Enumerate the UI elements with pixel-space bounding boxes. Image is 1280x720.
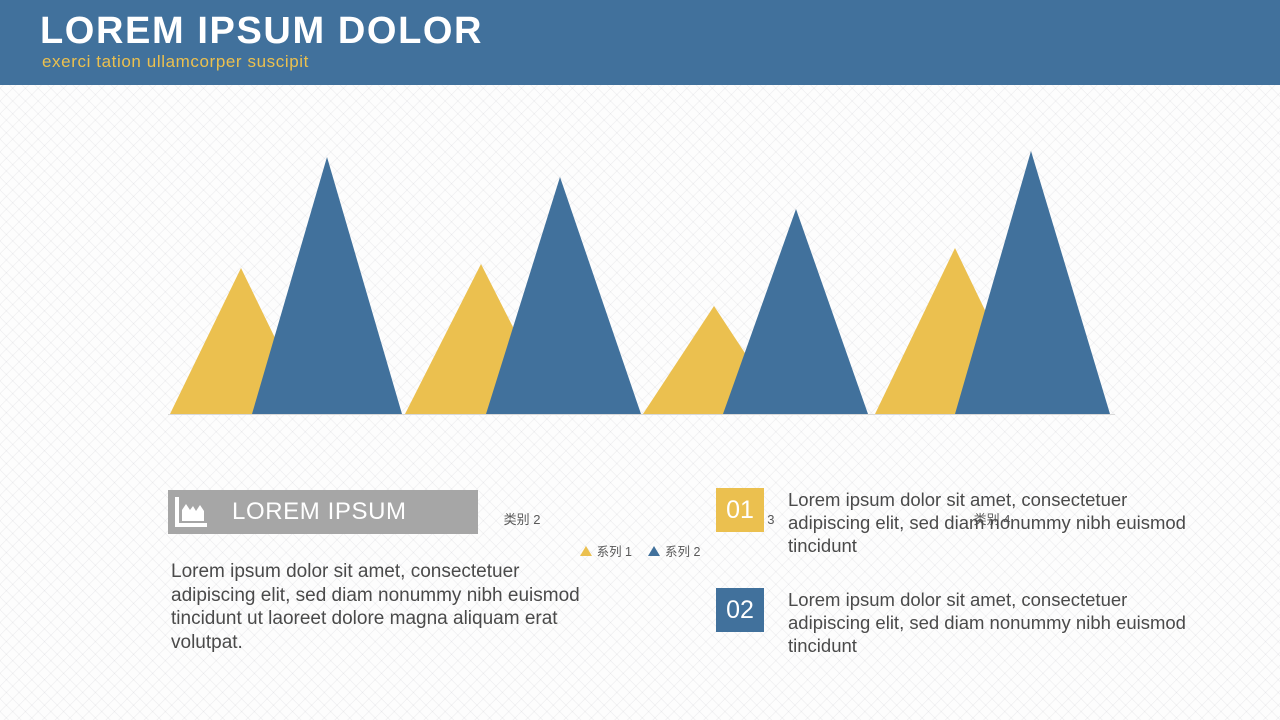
legend-label-series1: 系列 1 [597,541,632,560]
left-body-paragraph: Lorem ipsum dolor sit amet, consectetuer… [171,560,601,654]
area-chart-icon [168,490,214,534]
chart-mark-series2-cat4 [955,151,1110,414]
number-badge-01: 01 [716,488,764,532]
legend-swatch-triangle-yellow-icon [580,546,592,556]
legend-swatch-triangle-blue-icon [648,546,660,556]
legend-item-series1: 系列 1 [580,541,632,560]
mountain-area-chart [0,85,1280,480]
number-badge-02: 02 [716,588,764,632]
legend-label-series2: 系列 2 [665,541,700,560]
numbered-item-01: 01 Lorem ipsum dolor sit amet, consectet… [716,488,1216,557]
chart-mark-series2-cat2 [486,177,641,414]
numbered-item-text-01: Lorem ipsum dolor sit amet, consectetuer… [788,488,1203,557]
page-title: LOREM IPSUM DOLOR [40,9,483,53]
slide-header-band: LOREM IPSUM DOLOR exerci tation ullamcor… [0,0,1280,85]
page-subtitle: exerci tation ullamcorper suscipit [42,51,309,73]
legend-item-series2: 系列 2 [648,541,700,560]
numbered-item-text-02: Lorem ipsum dolor sit amet, consectetuer… [788,588,1203,657]
chart-mark-series2-cat3 [723,209,868,414]
lorem-ipsum-banner: LOREM IPSUM [168,490,478,534]
banner-label: LOREM IPSUM [232,498,407,526]
chart-mark-series2-cat1 [252,157,402,414]
chart-xtick-2: 类别 2 [462,509,582,528]
slide-canvas: LOREM IPSUM DOLOR exerci tation ullamcor… [0,0,1280,720]
numbered-item-02: 02 Lorem ipsum dolor sit amet, consectet… [716,588,1216,657]
chart-container: 类别 1 类别 2 类别 3 类别 4 系列 1 系列 2 [0,85,1280,480]
